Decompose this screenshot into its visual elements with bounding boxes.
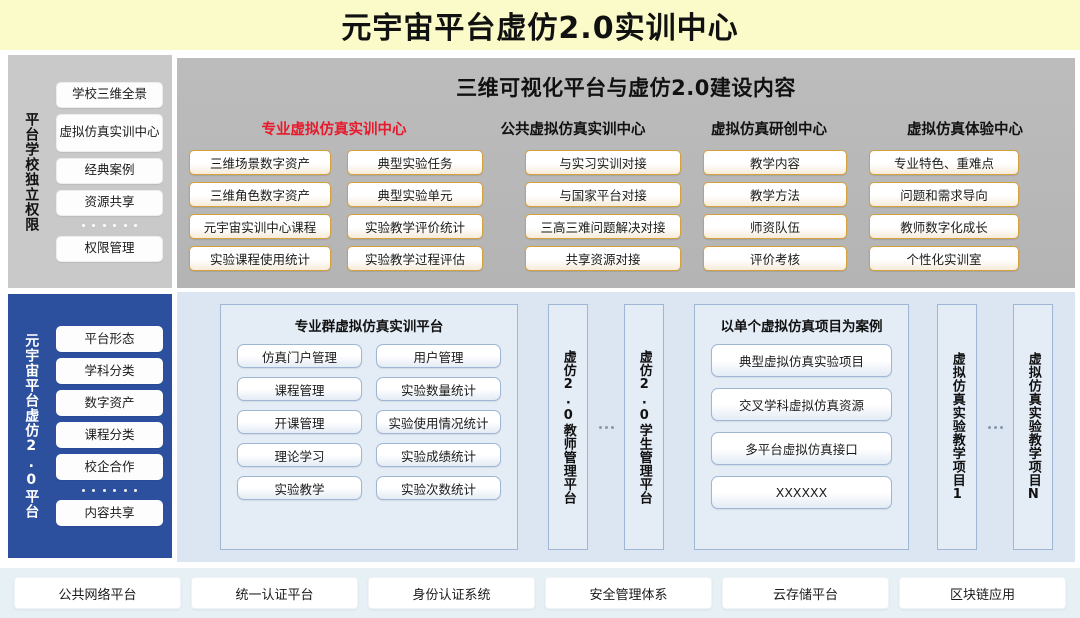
upper-box-1-2[interactable]: 三维角色数字资产 (189, 182, 331, 207)
sidebar-item-classic-cases[interactable]: 经典案例 (56, 158, 163, 184)
bottom-item-blockchain-application[interactable]: 区块链应用 (899, 577, 1066, 609)
bottom-item-identity-auth-system[interactable]: 身份认证系统 (368, 577, 535, 609)
upper-content-panel: 三维可视化平台与虚仿2.0建设内容 专业虚拟仿真实训中心 公共虚拟仿真实训中心 … (177, 58, 1075, 288)
upper-gap-3 (681, 150, 703, 271)
panel-a-item-user-management[interactable]: 用户管理 (376, 344, 501, 368)
panel-a-item-class-opening-management[interactable]: 开课管理 (237, 410, 362, 434)
upper-column-3: 与实习实训对接 与国家平台对接 三高三难问题解决对接 共享资源对接 (525, 150, 681, 271)
panel-a-item-experiment-teaching[interactable]: 实验教学 (237, 476, 362, 500)
lower-dots-separator-right (985, 304, 1005, 550)
sidebar-gray-vertical-label: 平台学校独立权限 (8, 55, 54, 288)
sidebar-gray-items: 学校三维全景 虚拟仿真实训中心 经典案例 资源共享 权限管理 (54, 55, 172, 288)
sidebar-item-resource-sharing[interactable]: 资源共享 (56, 190, 163, 216)
panel-student-management-label: 虚仿2.0学生管理平台 (636, 350, 652, 505)
sidebar-blue-vertical-label: 元宇宙平台虚仿2.0平台 (8, 294, 54, 558)
lower-gap-2 (672, 304, 686, 550)
panel-teacher-management-platform[interactable]: 虚仿2.0教师管理平台 (548, 304, 588, 550)
column-header-public-vr-center: 公共虚拟仿真实训中心 (479, 118, 667, 139)
upper-box-4-4[interactable]: 评价考核 (703, 246, 847, 271)
sidebar-item-digital-assets[interactable]: 数字资产 (56, 390, 163, 416)
panel-vr-experiment-project-n[interactable]: 虚拟仿真实验教学项目N (1013, 304, 1053, 550)
panel-a-item-experiment-usage-stats[interactable]: 实验使用情况统计 (376, 410, 501, 434)
bottom-item-cloud-storage-platform[interactable]: 云存储平台 (722, 577, 889, 609)
upper-box-5-2[interactable]: 问题和需求导向 (869, 182, 1019, 207)
upper-box-4-1[interactable]: 教学内容 (703, 150, 847, 175)
upper-box-3-2[interactable]: 与国家平台对接 (525, 182, 681, 207)
panel-b-item-multiplatform-vr-interface[interactable]: 多平台虚拟仿真接口 (711, 432, 892, 465)
bottom-infrastructure-bar: 公共网络平台 统一认证平台 身份认证系统 安全管理体系 云存储平台 区块链应用 (0, 568, 1080, 618)
upper-box-4-2[interactable]: 教学方法 (703, 182, 847, 207)
panel-single-vr-project-case: 以单个虚拟仿真项目为案例 典型虚拟仿真实验项目 交叉学科虚拟仿真资源 多平台虚拟… (694, 304, 909, 550)
diagram-root: 元宇宙平台虚仿2.0实训中心 平台学校独立权限 学校三维全景 虚拟仿真实训中心 … (0, 0, 1080, 618)
sidebar-gray-dots-separator (82, 223, 138, 229)
upper-box-2-2[interactable]: 典型实验单元 (347, 182, 483, 207)
bottom-item-unified-auth-platform[interactable]: 统一认证平台 (191, 577, 358, 609)
upper-box-3-4[interactable]: 共享资源对接 (525, 246, 681, 271)
sidebar-item-school-enterprise-coop[interactable]: 校企合作 (56, 454, 163, 480)
panel-a-left-column: 仿真门户管理 课程管理 开课管理 理论学习 实验教学 (237, 344, 362, 500)
sidebar-item-permission-management[interactable]: 权限管理 (56, 236, 163, 262)
panel-b-items: 典型虚拟仿真实验项目 交叉学科虚拟仿真资源 多平台虚拟仿真接口 XXXXXX (695, 344, 908, 521)
column-header-professional-vr-center: 专业虚拟仿真实训中心 (189, 118, 479, 139)
panel-a-item-experiment-count-stats[interactable]: 实验数量统计 (376, 377, 501, 401)
lower-dots-separator-left (596, 304, 616, 550)
sidebar-blue-items: 平台形态 学科分类 数字资产 课程分类 校企合作 内容共享 (54, 294, 172, 558)
column-header-vr-research-center: 虚拟仿真研创中心 (685, 118, 853, 139)
upper-panel-title: 三维可视化平台与虚仿2.0建设内容 (177, 58, 1075, 102)
panel-a-item-theory-learning[interactable]: 理论学习 (237, 443, 362, 467)
sidebar-item-school-3d-panorama[interactable]: 学校三维全景 (56, 82, 163, 108)
upper-column-2: 典型实验任务 典型实验单元 实验教学评价统计 实验教学过程评估 (347, 150, 483, 271)
upper-box-2-4[interactable]: 实验教学过程评估 (347, 246, 483, 271)
sidebar-item-content-sharing[interactable]: 内容共享 (56, 500, 163, 526)
panel-a-item-experiment-score-stats[interactable]: 实验成绩统计 (376, 443, 501, 467)
upper-box-3-1[interactable]: 与实习实训对接 (525, 150, 681, 175)
upper-box-2-1[interactable]: 典型实验任务 (347, 150, 483, 175)
upper-box-5-3[interactable]: 教师数字化成长 (869, 214, 1019, 239)
panel-b-item-interdisciplinary-vr-resources[interactable]: 交叉学科虚拟仿真资源 (711, 388, 892, 421)
sidebar-item-discipline-category[interactable]: 学科分类 (56, 358, 163, 384)
panel-vr-experiment-project-1[interactable]: 虚拟仿真实验教学项目1 (937, 304, 977, 550)
upper-gap-2 (483, 150, 525, 271)
upper-box-1-4[interactable]: 实验课程使用统计 (189, 246, 331, 271)
upper-box-1-1[interactable]: 三维场景数字资产 (189, 150, 331, 175)
sidebar-item-platform-form[interactable]: 平台形态 (56, 326, 163, 352)
panel-a-right-column: 用户管理 实验数量统计 实验使用情况统计 实验成绩统计 实验次数统计 (376, 344, 501, 500)
upper-column-1: 三维场景数字资产 三维角色数字资产 元宇宙实训中心课程 实验课程使用统计 (189, 150, 331, 271)
sidebar-item-course-category[interactable]: 课程分类 (56, 422, 163, 448)
upper-gap-4 (847, 150, 869, 271)
bottom-item-security-management-system[interactable]: 安全管理体系 (545, 577, 712, 609)
panel-a-columns: 仿真门户管理 课程管理 开课管理 理论学习 实验教学 用户管理 实验数量统计 实… (221, 344, 517, 512)
panel-b-item-placeholder[interactable]: XXXXXX (711, 476, 892, 509)
bottom-item-public-network-platform[interactable]: 公共网络平台 (14, 577, 181, 609)
lower-gap-1 (526, 304, 540, 550)
upper-column-4: 教学内容 教学方法 师资队伍 评价考核 (703, 150, 847, 271)
sidebar-blue-dots-separator (82, 487, 138, 493)
sidebar-item-vr-training-center[interactable]: 虚拟仿真实训中心 (56, 114, 163, 152)
sidebar-section-school-rights: 平台学校独立权限 学校三维全景 虚拟仿真实训中心 经典案例 资源共享 权限管理 (8, 55, 172, 288)
sidebar-section-metaverse-platform: 元宇宙平台虚仿2.0平台 平台形态 学科分类 数字资产 课程分类 校企合作 内容… (8, 294, 172, 558)
page-title: 元宇宙平台虚仿2.0实训中心 (341, 3, 738, 47)
upper-panel-column-headers: 专业虚拟仿真实训中心 公共虚拟仿真实训中心 虚拟仿真研创中心 虚拟仿真体验中心 (177, 118, 1075, 142)
lower-gap-3 (917, 304, 929, 550)
panel-vr-experiment-project-n-label: 虚拟仿真实验教学项目N (1025, 352, 1041, 503)
upper-box-2-3[interactable]: 实验教学评价统计 (347, 214, 483, 239)
panel-vr-experiment-project-1-label: 虚拟仿真实验教学项目1 (949, 352, 965, 503)
panel-student-management-platform[interactable]: 虚仿2.0学生管理平台 (624, 304, 664, 550)
title-banner: 元宇宙平台虚仿2.0实训中心 (0, 0, 1080, 50)
panel-b-item-typical-vr-experiment-project[interactable]: 典型虚拟仿真实验项目 (711, 344, 892, 377)
panel-b-title: 以单个虚拟仿真项目为案例 (695, 305, 908, 344)
upper-column-5: 专业特色、重难点 问题和需求导向 教师数字化成长 个性化实训室 (869, 150, 1019, 271)
upper-box-3-3[interactable]: 三高三难问题解决对接 (525, 214, 681, 239)
upper-box-1-3[interactable]: 元宇宙实训中心课程 (189, 214, 331, 239)
panel-teacher-management-label: 虚仿2.0教师管理平台 (560, 350, 576, 505)
column-header-vr-experience-center: 虚拟仿真体验中心 (867, 118, 1063, 139)
panel-a-item-course-management[interactable]: 课程管理 (237, 377, 362, 401)
upper-box-4-3[interactable]: 师资队伍 (703, 214, 847, 239)
upper-gap-1 (331, 150, 347, 271)
upper-panel-grid: 三维场景数字资产 三维角色数字资产 元宇宙实训中心课程 实验课程使用统计 典型实… (177, 150, 1075, 271)
panel-a-item-experiment-times-stats[interactable]: 实验次数统计 (376, 476, 501, 500)
lower-content-panel: 专业群虚拟仿真实训平台 仿真门户管理 课程管理 开课管理 理论学习 实验教学 用… (177, 292, 1075, 562)
panel-a-item-portal-management[interactable]: 仿真门户管理 (237, 344, 362, 368)
panel-a-title: 专业群虚拟仿真实训平台 (221, 305, 517, 344)
upper-box-5-4[interactable]: 个性化实训室 (869, 246, 1019, 271)
panel-professional-group-vr-platform: 专业群虚拟仿真实训平台 仿真门户管理 课程管理 开课管理 理论学习 实验教学 用… (220, 304, 518, 550)
upper-box-5-1[interactable]: 专业特色、重难点 (869, 150, 1019, 175)
